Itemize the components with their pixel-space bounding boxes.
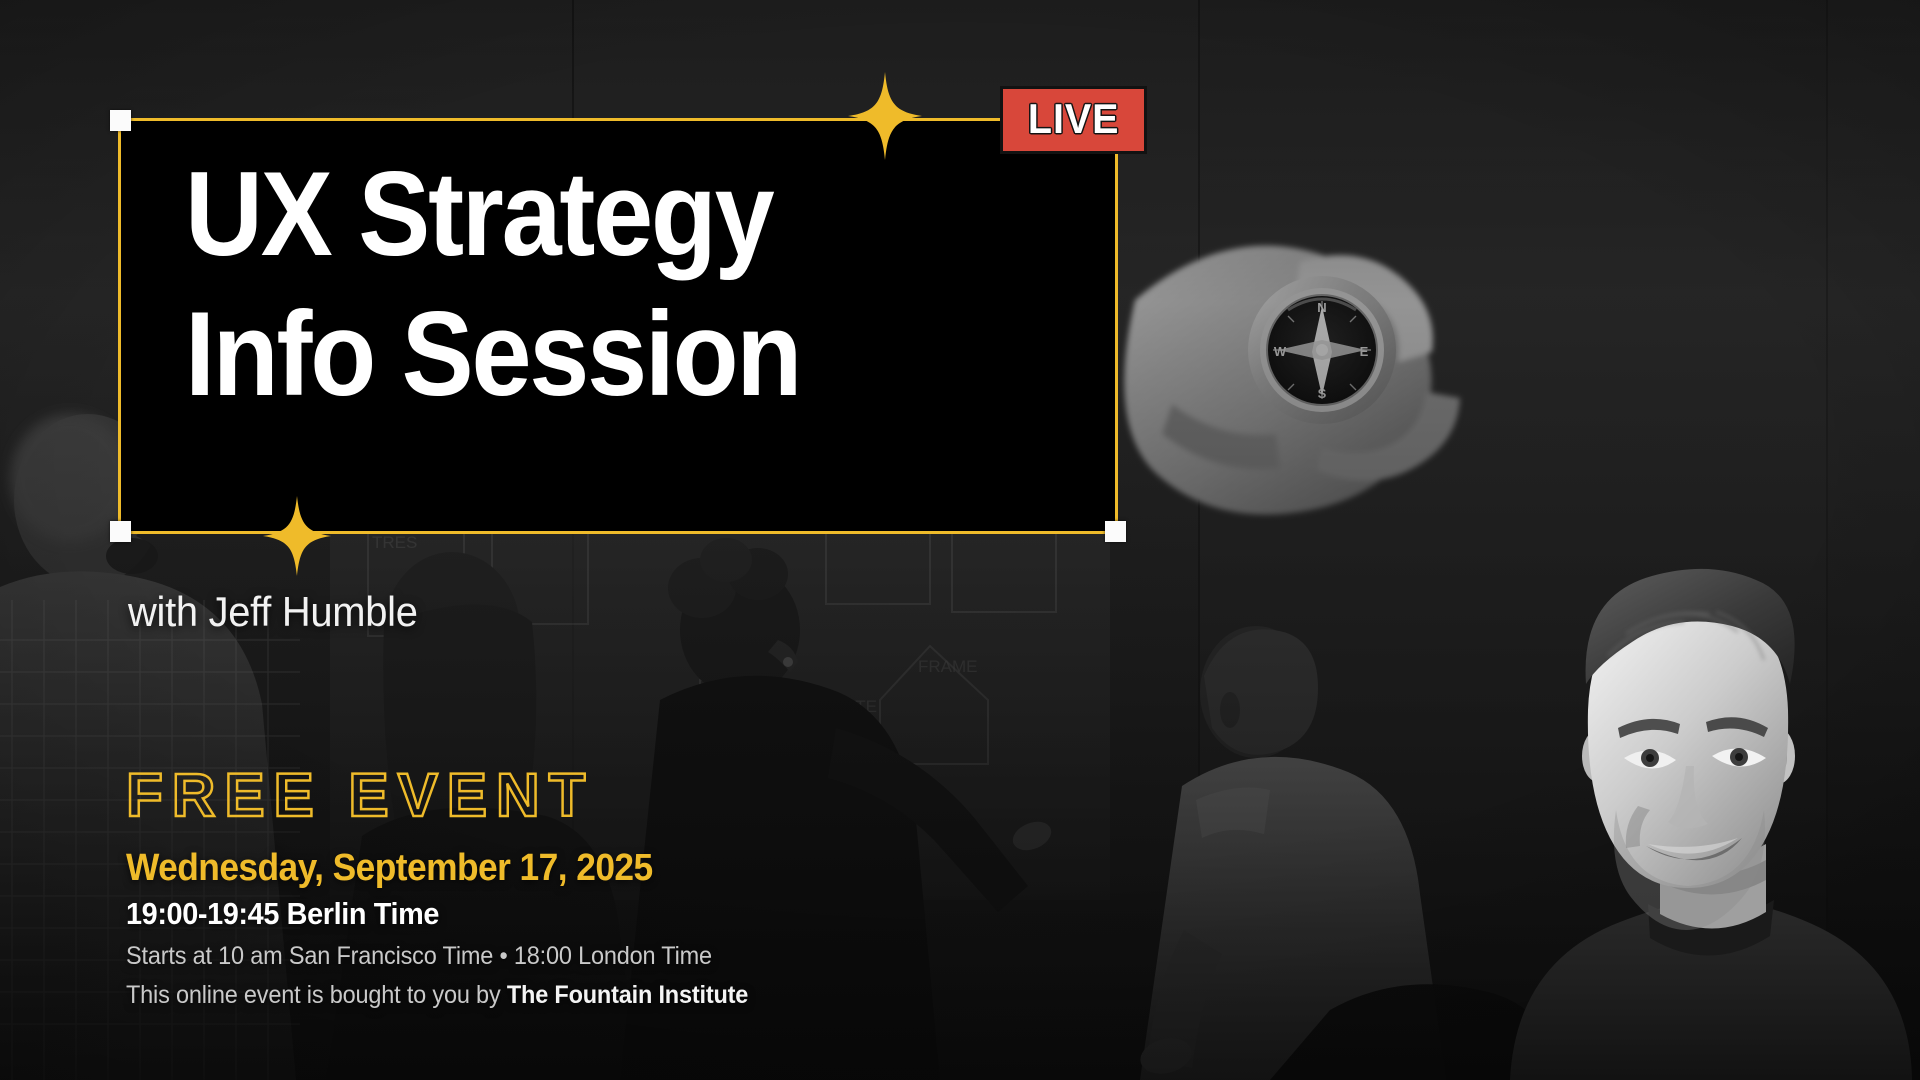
- title-line-2: Info Session: [185, 296, 995, 414]
- resize-handle-bottom-right[interactable]: [1105, 521, 1126, 542]
- event-host-line: This online event is bought to you by Th…: [126, 980, 859, 1010]
- event-host-name: The Fountain Institute: [507, 981, 748, 1009]
- resize-handle-bottom-left[interactable]: [110, 521, 131, 542]
- poster-title: UX Strategy Info Session: [185, 156, 1085, 413]
- event-info-block: FREE EVENT Wednesday, September 17, 2025…: [126, 765, 906, 1010]
- event-host-prefix: This online event is bought to you by: [126, 981, 507, 1009]
- free-event-label: FREE EVENT: [126, 765, 898, 826]
- speaker-portrait-illustration: [1490, 560, 1920, 1080]
- resize-handle-top-left[interactable]: [110, 110, 131, 131]
- live-badge-label: LIVE: [1028, 98, 1120, 140]
- event-date: Wednesday, September 17, 2025: [126, 848, 851, 889]
- presenter-name: with Jeff Humble: [128, 588, 418, 636]
- event-time: 19:00-19:45 Berlin Time: [126, 897, 851, 931]
- svg-text:FRAME: FRAME: [918, 657, 978, 676]
- svg-text:E: E: [1360, 344, 1369, 359]
- event-timezones: Starts at 10 am San Francisco Time • 18:…: [126, 941, 859, 971]
- speaker-portrait: [1490, 560, 1920, 1080]
- event-promo-poster: TRES LAB GATE FRAME ZA: [0, 0, 1920, 1080]
- svg-text:TRES: TRES: [372, 533, 417, 552]
- title-line-1: UX Strategy: [185, 156, 995, 274]
- live-badge: LIVE: [1000, 86, 1147, 154]
